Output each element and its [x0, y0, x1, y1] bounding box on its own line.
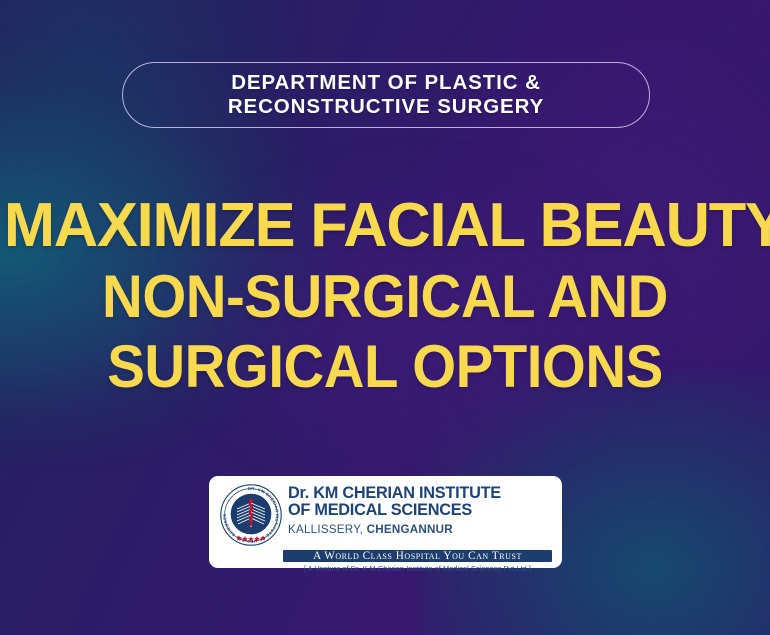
hospital-logo-card: DR. KM CHERIAN INSTITUTE OF MEDICAL SCIE…: [209, 476, 562, 568]
headline-line-3: SURGICAL OPTIONS: [23, 338, 747, 396]
promotional-poster: DEPARTMENT OF PLASTIC & RECONSTRUCTIVE S…: [0, 0, 770, 635]
venture-fineprint: [ A Venture of Dr. K M Cherian Institute…: [283, 564, 552, 573]
logo-name-block: Dr. KM CHERIAN INSTITUTE OF MEDICAL SCIE…: [288, 482, 552, 536]
institute-name: Dr. KM CHERIAN INSTITUTE OF MEDICAL SCIE…: [288, 485, 552, 520]
headline-block: MAXIMIZE FACIAL BEAUTY: NON-SURGICAL AND…: [0, 196, 770, 397]
logo-top-row: DR. KM CHERIAN INSTITUTE OF MEDICAL SCIE…: [219, 482, 552, 547]
department-badge: DEPARTMENT OF PLASTIC & RECONSTRUCTIVE S…: [122, 62, 650, 128]
department-badge-label: DEPARTMENT OF PLASTIC & RECONSTRUCTIVE S…: [228, 71, 544, 119]
headline-line-2: NON-SURGICAL AND: [23, 268, 747, 326]
headline-line-1: MAXIMIZE FACIAL BEAUTY:: [4, 196, 766, 256]
tagline-text: A World Class Hospital You Can Trust: [313, 550, 522, 562]
institute-location-city: KALLISSERY,: [288, 523, 363, 536]
hospital-emblem-icon: DR. KM CHERIAN INSTITUTE OF MEDICAL SCIE…: [219, 483, 283, 547]
tagline-bar: A World Class Hospital You Can Trust: [283, 550, 552, 562]
institute-location-town: CHENGANNUR: [367, 523, 453, 536]
institute-location: KALLISSERY, CHENGANNUR: [288, 523, 552, 536]
